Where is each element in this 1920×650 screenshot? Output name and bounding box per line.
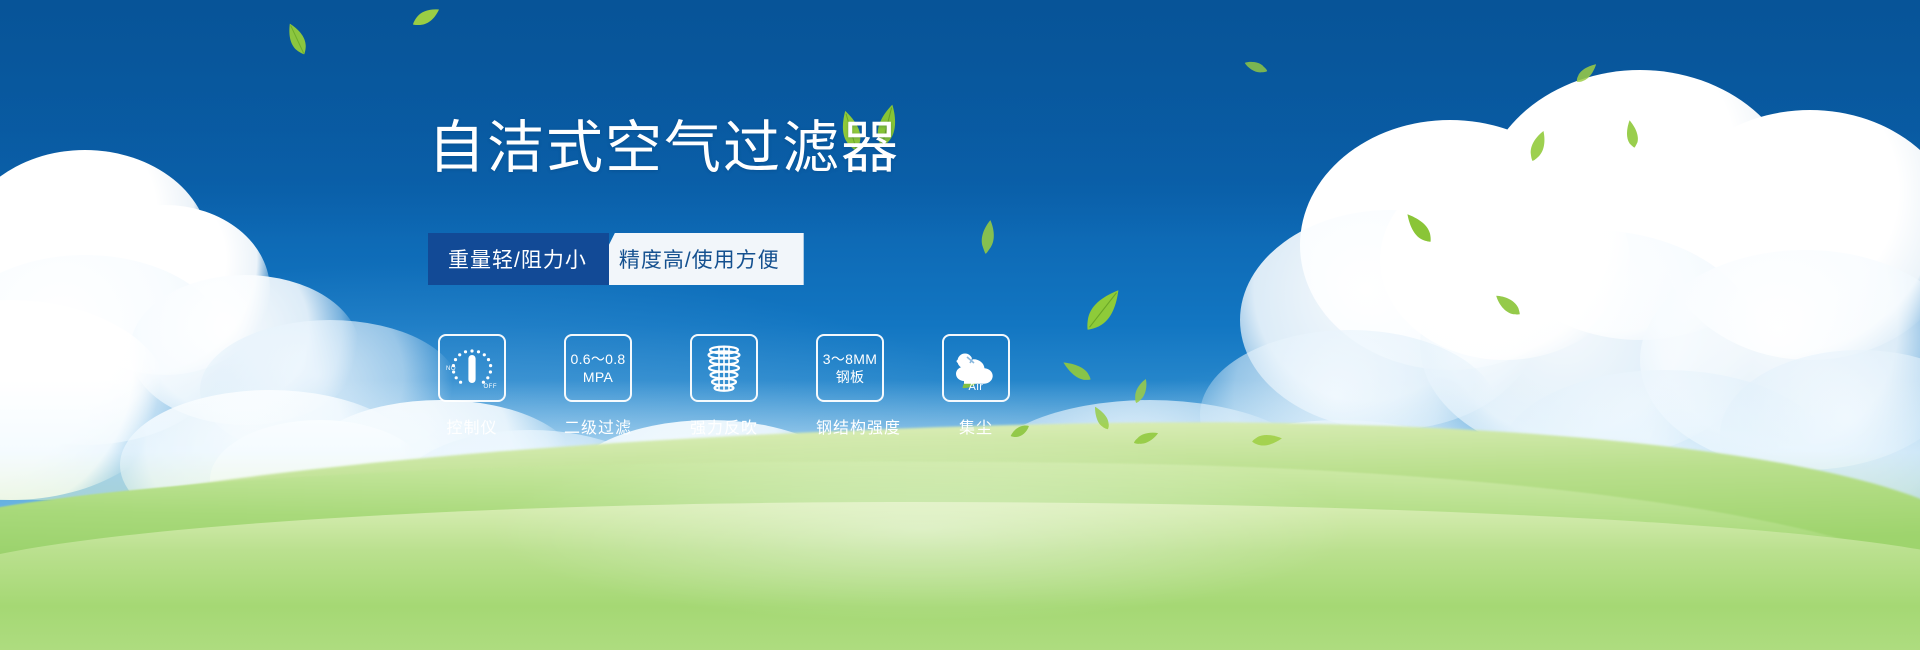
feature-item-control[interactable]: NO OFF 控制仪: [438, 334, 506, 438]
slogan-group: 重量轻/阻力小 精度高/使用方便: [428, 233, 804, 285]
feature-caption: 钢结构强度: [816, 414, 884, 438]
feature-caption: 集尘: [942, 414, 1010, 438]
feature-list: NO OFF 控制仪 0.6～0.8 MPA 二级过滤: [438, 334, 1010, 438]
cloud-air-icon: Air: [942, 334, 1010, 402]
feature-item-filter[interactable]: 0.6～0.8 MPA 二级过滤: [564, 334, 632, 438]
feature-caption: 二级过滤: [564, 414, 632, 438]
banner-hero: 自洁式空气过滤器 重量轻/阻力小 精度高/使用方便: [0, 0, 1920, 650]
feature-item-backblow[interactable]: 强力反吹: [690, 334, 758, 438]
page-title: 自洁式空气过滤器: [428, 120, 900, 177]
steel-plate-value: 3～8MM 钢板: [823, 350, 877, 386]
control-gauge-icon: NO OFF: [438, 334, 506, 402]
back-blow-coil-icon: [690, 334, 758, 402]
feature-caption: 控制仪: [438, 414, 506, 438]
gauge-off-label: OFF: [484, 384, 498, 390]
feature-caption: 强力反吹: [690, 414, 758, 438]
banner-content: 自洁式空气过滤器 重量轻/阻力小 精度高/使用方便: [0, 0, 1920, 650]
gauge-no-label: NO: [446, 366, 456, 372]
pressure-value: 0.6～0.8 MPA: [570, 350, 625, 386]
slogan-primary: 重量轻/阻力小: [428, 233, 609, 285]
pressure-text-icon: 0.6～0.8 MPA: [564, 334, 632, 402]
air-label: Air: [944, 381, 1008, 393]
steel-plate-text-icon: 3～8MM 钢板: [816, 334, 884, 402]
feature-item-dust[interactable]: Air 集尘: [942, 334, 1010, 438]
slogan-secondary: 精度高/使用方便: [589, 233, 804, 285]
feature-item-steel[interactable]: 3～8MM 钢板 钢结构强度: [816, 334, 884, 438]
